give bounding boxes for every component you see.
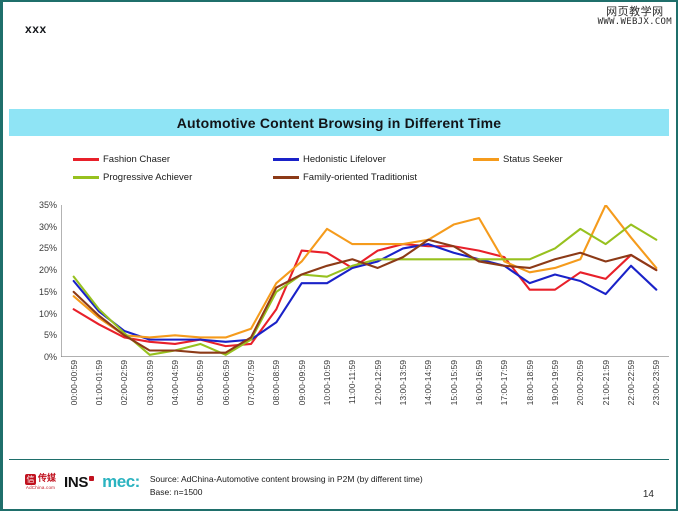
chart-title: Automotive Content Browsing in Different… bbox=[177, 115, 502, 131]
watermark-chinese: 网页教学网 bbox=[598, 6, 672, 18]
y-axis-tick-label: 30% bbox=[39, 222, 57, 232]
footer-logos: 信 传媒 AdChina.com INS mec: bbox=[25, 470, 140, 492]
x-axis-tick-label: 13:00-13:59 bbox=[398, 360, 408, 405]
ins-logo-text: INS bbox=[64, 474, 88, 491]
watermark: 网页教学网 WWW.WEBJX.COM bbox=[598, 6, 672, 27]
x-axis-tick-label: 22:00-22:59 bbox=[626, 360, 636, 405]
x-axis-tick-label: 16:00-16:59 bbox=[474, 360, 484, 405]
legend-label: Family-oriented Traditionist bbox=[303, 172, 417, 183]
source-note: Source: AdChina-Automotive content brows… bbox=[150, 470, 423, 499]
x-axis-tick-label: 21:00-21:59 bbox=[601, 360, 611, 405]
y-axis-tick-label: 10% bbox=[39, 309, 57, 319]
legend-swatch-icon bbox=[273, 158, 299, 161]
legend-swatch-icon bbox=[473, 158, 499, 161]
legend-label: Progressive Achiever bbox=[103, 172, 192, 183]
legend-label: Hedonistic Lifelover bbox=[303, 154, 386, 165]
x-axis-tick-label: 10:00-10:59 bbox=[322, 360, 332, 405]
legend-item-family-oriented-traditionist[interactable]: Family-oriented Traditionist bbox=[273, 172, 473, 183]
x-axis-tick-label: 01:00-01:59 bbox=[94, 360, 104, 405]
page-number: 14 bbox=[643, 489, 654, 500]
mec-logo: mec: bbox=[102, 472, 140, 492]
chart-legend: Fashion Chaser Hedonistic Lifelover Stat… bbox=[73, 154, 653, 190]
x-axis-tick-label: 14:00-14:59 bbox=[423, 360, 433, 405]
plot-area bbox=[61, 205, 669, 357]
legend-swatch-icon bbox=[73, 176, 99, 179]
legend-swatch-icon bbox=[273, 176, 299, 179]
x-axis-tick-label: 17:00-17:59 bbox=[499, 360, 509, 405]
x-axis-tick-label: 18:00-18:59 bbox=[525, 360, 535, 405]
ins-logo: INS bbox=[64, 474, 94, 491]
slide-canvas: xxx 网页教学网 WWW.WEBJX.COM Automotive Conte… bbox=[0, 0, 678, 511]
adchina-mark-icon: 信 bbox=[25, 474, 36, 485]
legend-item-status-seeker[interactable]: Status Seeker bbox=[473, 154, 563, 165]
x-axis-tick-label: 06:00-06:59 bbox=[221, 360, 231, 405]
footer: 信 传媒 AdChina.com INS mec: Source: AdChin… bbox=[25, 470, 423, 499]
x-axis-tick-label: 09:00-09:59 bbox=[297, 360, 307, 405]
legend-label: Status Seeker bbox=[503, 154, 563, 165]
x-axis-tick-label: 11:00-11:59 bbox=[347, 360, 357, 404]
legend-row-1: Fashion Chaser Hedonistic Lifelover Stat… bbox=[73, 154, 653, 165]
plot-svg bbox=[61, 205, 669, 357]
y-axis-tick-label: 15% bbox=[39, 287, 57, 297]
y-axis-tick-label: 0% bbox=[44, 352, 57, 362]
x-axis-tick-label: 08:00-08:59 bbox=[271, 360, 281, 405]
adchina-logo-sub: AdChina.com bbox=[26, 486, 55, 491]
footer-divider bbox=[9, 459, 669, 460]
adchina-logo: 信 传媒 AdChina.com bbox=[25, 474, 56, 491]
source-line-1: Source: AdChina-Automotive content brows… bbox=[150, 473, 423, 486]
x-axis-labels: 00:00-00:5901:00-01:5902:00-02:5903:00-0… bbox=[61, 360, 669, 455]
y-axis-tick-label: 25% bbox=[39, 243, 57, 253]
x-axis-tick-label: 03:00-03:59 bbox=[145, 360, 155, 405]
x-axis-tick-label: 20:00-20:59 bbox=[575, 360, 585, 405]
x-axis-tick-label: 19:00-19:59 bbox=[550, 360, 560, 405]
x-axis-tick-label: 15:00-15:59 bbox=[449, 360, 459, 405]
legend-item-fashion-chaser[interactable]: Fashion Chaser bbox=[73, 154, 273, 165]
ins-dot-icon bbox=[89, 476, 94, 481]
y-axis-labels: 0%5%10%15%20%25%30%35% bbox=[21, 200, 57, 362]
legend-label: Fashion Chaser bbox=[103, 154, 170, 165]
chart-title-band: Automotive Content Browsing in Different… bbox=[9, 109, 669, 136]
y-axis-tick-label: 5% bbox=[44, 330, 57, 340]
source-line-2: Base: n=1500 bbox=[150, 486, 423, 499]
page-title: xxx bbox=[25, 22, 47, 36]
y-axis-tick-label: 35% bbox=[39, 200, 57, 210]
legend-item-progressive-achiever[interactable]: Progressive Achiever bbox=[73, 172, 273, 183]
y-axis-tick-label: 20% bbox=[39, 265, 57, 275]
legend-item-hedonistic-lifelover[interactable]: Hedonistic Lifelover bbox=[273, 154, 473, 165]
legend-swatch-icon bbox=[73, 158, 99, 161]
x-axis-tick-label: 02:00-02:59 bbox=[119, 360, 129, 405]
x-axis-tick-label: 04:00-04:59 bbox=[170, 360, 180, 405]
line-chart: 0%5%10%15%20%25%30%35% 00:00-00:5901:00-… bbox=[21, 200, 669, 455]
x-axis-tick-label: 23:00-23:59 bbox=[651, 360, 661, 405]
x-axis-tick-label: 00:00-00:59 bbox=[69, 360, 79, 405]
legend-row-2: Progressive Achiever Family-oriented Tra… bbox=[73, 172, 653, 183]
x-axis-tick-label: 05:00-05:59 bbox=[195, 360, 205, 405]
x-axis-tick-label: 12:00-12:59 bbox=[373, 360, 383, 405]
watermark-url: WWW.WEBJX.COM bbox=[598, 18, 672, 27]
adchina-logo-cn: 传媒 bbox=[38, 475, 56, 484]
x-axis-tick-label: 07:00-07:59 bbox=[246, 360, 256, 405]
